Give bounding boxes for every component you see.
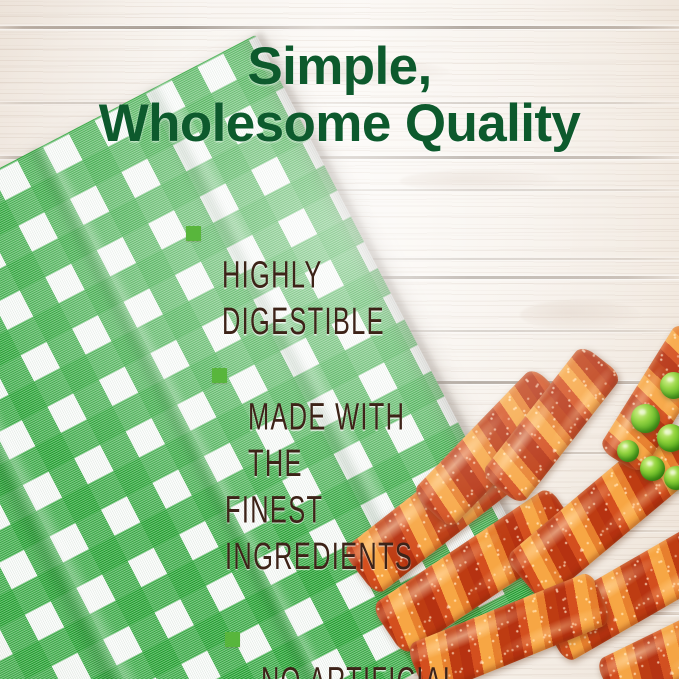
pea: [617, 440, 639, 462]
benefit-item: MADE WITH THE FINEST INGREDIENTS: [186, 348, 516, 576]
green-square-bullet-icon: [212, 368, 227, 383]
benefit-line: HIGHLY DIGESTIBLE: [222, 254, 385, 343]
wood-knot: [400, 170, 560, 192]
headline-line-2: Wholesome Quality: [0, 95, 679, 152]
wood-knot: [520, 300, 640, 330]
plank-seam: [0, 26, 679, 29]
benefit-item: NO ARTIFICIAL COLORS, FLAVORS, OR PRESER…: [186, 612, 516, 679]
pea: [640, 456, 665, 481]
benefit-line: NO ARTIFICIAL: [261, 660, 458, 679]
page-title: Simple, Wholesome Quality: [0, 38, 679, 152]
benefit-item: HIGHLY DIGESTIBLE: [186, 206, 516, 320]
benefit-line: FINEST INGREDIENTS: [225, 487, 468, 580]
benefit-text: HIGHLY DIGESTIBLE: [222, 206, 463, 345]
headline-line-1: Simple,: [0, 38, 679, 95]
green-square-bullet-icon: [186, 226, 201, 241]
pea: [631, 404, 660, 433]
benefit-text: MADE WITH THE FINEST INGREDIENTS: [248, 348, 468, 626]
benefit-line: MADE WITH THE: [248, 396, 405, 485]
product-feature-poster: Simple, Wholesome Quality HIGHLY DIGESTI…: [0, 0, 679, 679]
benefit-text: NO ARTIFICIAL COLORS, FLAVORS, OR PRESER…: [261, 612, 470, 679]
benefits-list: HIGHLY DIGESTIBLE MADE WITH THE FINEST I…: [186, 206, 516, 679]
green-square-bullet-icon: [225, 632, 240, 647]
pea: [657, 424, 679, 452]
